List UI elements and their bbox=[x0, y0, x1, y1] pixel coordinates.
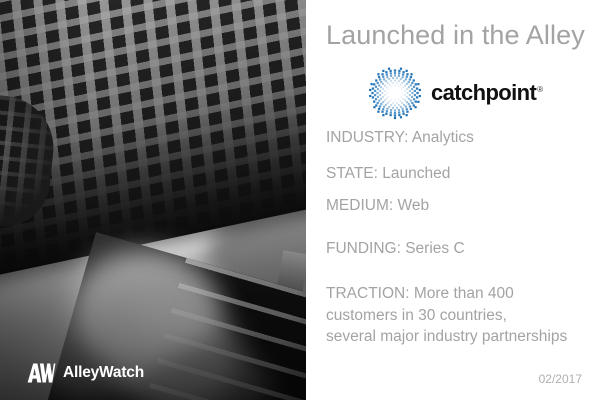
catchpoint-logo-icon bbox=[368, 66, 422, 120]
date-stamp: 02/2017 bbox=[539, 372, 582, 386]
fact-medium: MEDIUM: Web bbox=[326, 196, 596, 216]
company-brand: catchpoint® bbox=[368, 66, 543, 120]
page-title: Launched in the Alley bbox=[326, 20, 585, 51]
fact-traction-line-3: several major industry partnerships bbox=[326, 326, 596, 347]
fact-list: INDUSTRY: Analytics STATE: Launched MEDI… bbox=[326, 128, 596, 347]
company-name-text: catchpoint bbox=[431, 80, 536, 105]
fact-industry: INDUSTRY: Analytics bbox=[326, 128, 596, 148]
fact-traction-line-2: customers in 30 countries, bbox=[326, 305, 596, 326]
launched-in-the-alley-card: AlleyWatch Launched in the Alley catchpo… bbox=[0, 0, 600, 400]
steam-3 bbox=[30, 300, 150, 400]
info-panel: Launched in the Alley catchpoint® INDUST… bbox=[306, 0, 600, 400]
fact-traction-line-1: TRACTION: More than 400 bbox=[326, 283, 596, 304]
company-name: catchpoint® bbox=[431, 82, 543, 104]
alleywatch-monogram-icon bbox=[26, 362, 56, 384]
registered-mark: ® bbox=[537, 85, 542, 94]
fact-state: STATE: Launched bbox=[326, 164, 596, 184]
alleywatch-watermark: AlleyWatch bbox=[26, 362, 144, 384]
hero-photo: AlleyWatch bbox=[0, 0, 306, 400]
fact-traction: TRACTION: More than 400 customers in 30 … bbox=[326, 283, 596, 347]
alleywatch-wordmark: AlleyWatch bbox=[63, 365, 144, 381]
fact-funding: FUNDING: Series C bbox=[326, 239, 596, 259]
